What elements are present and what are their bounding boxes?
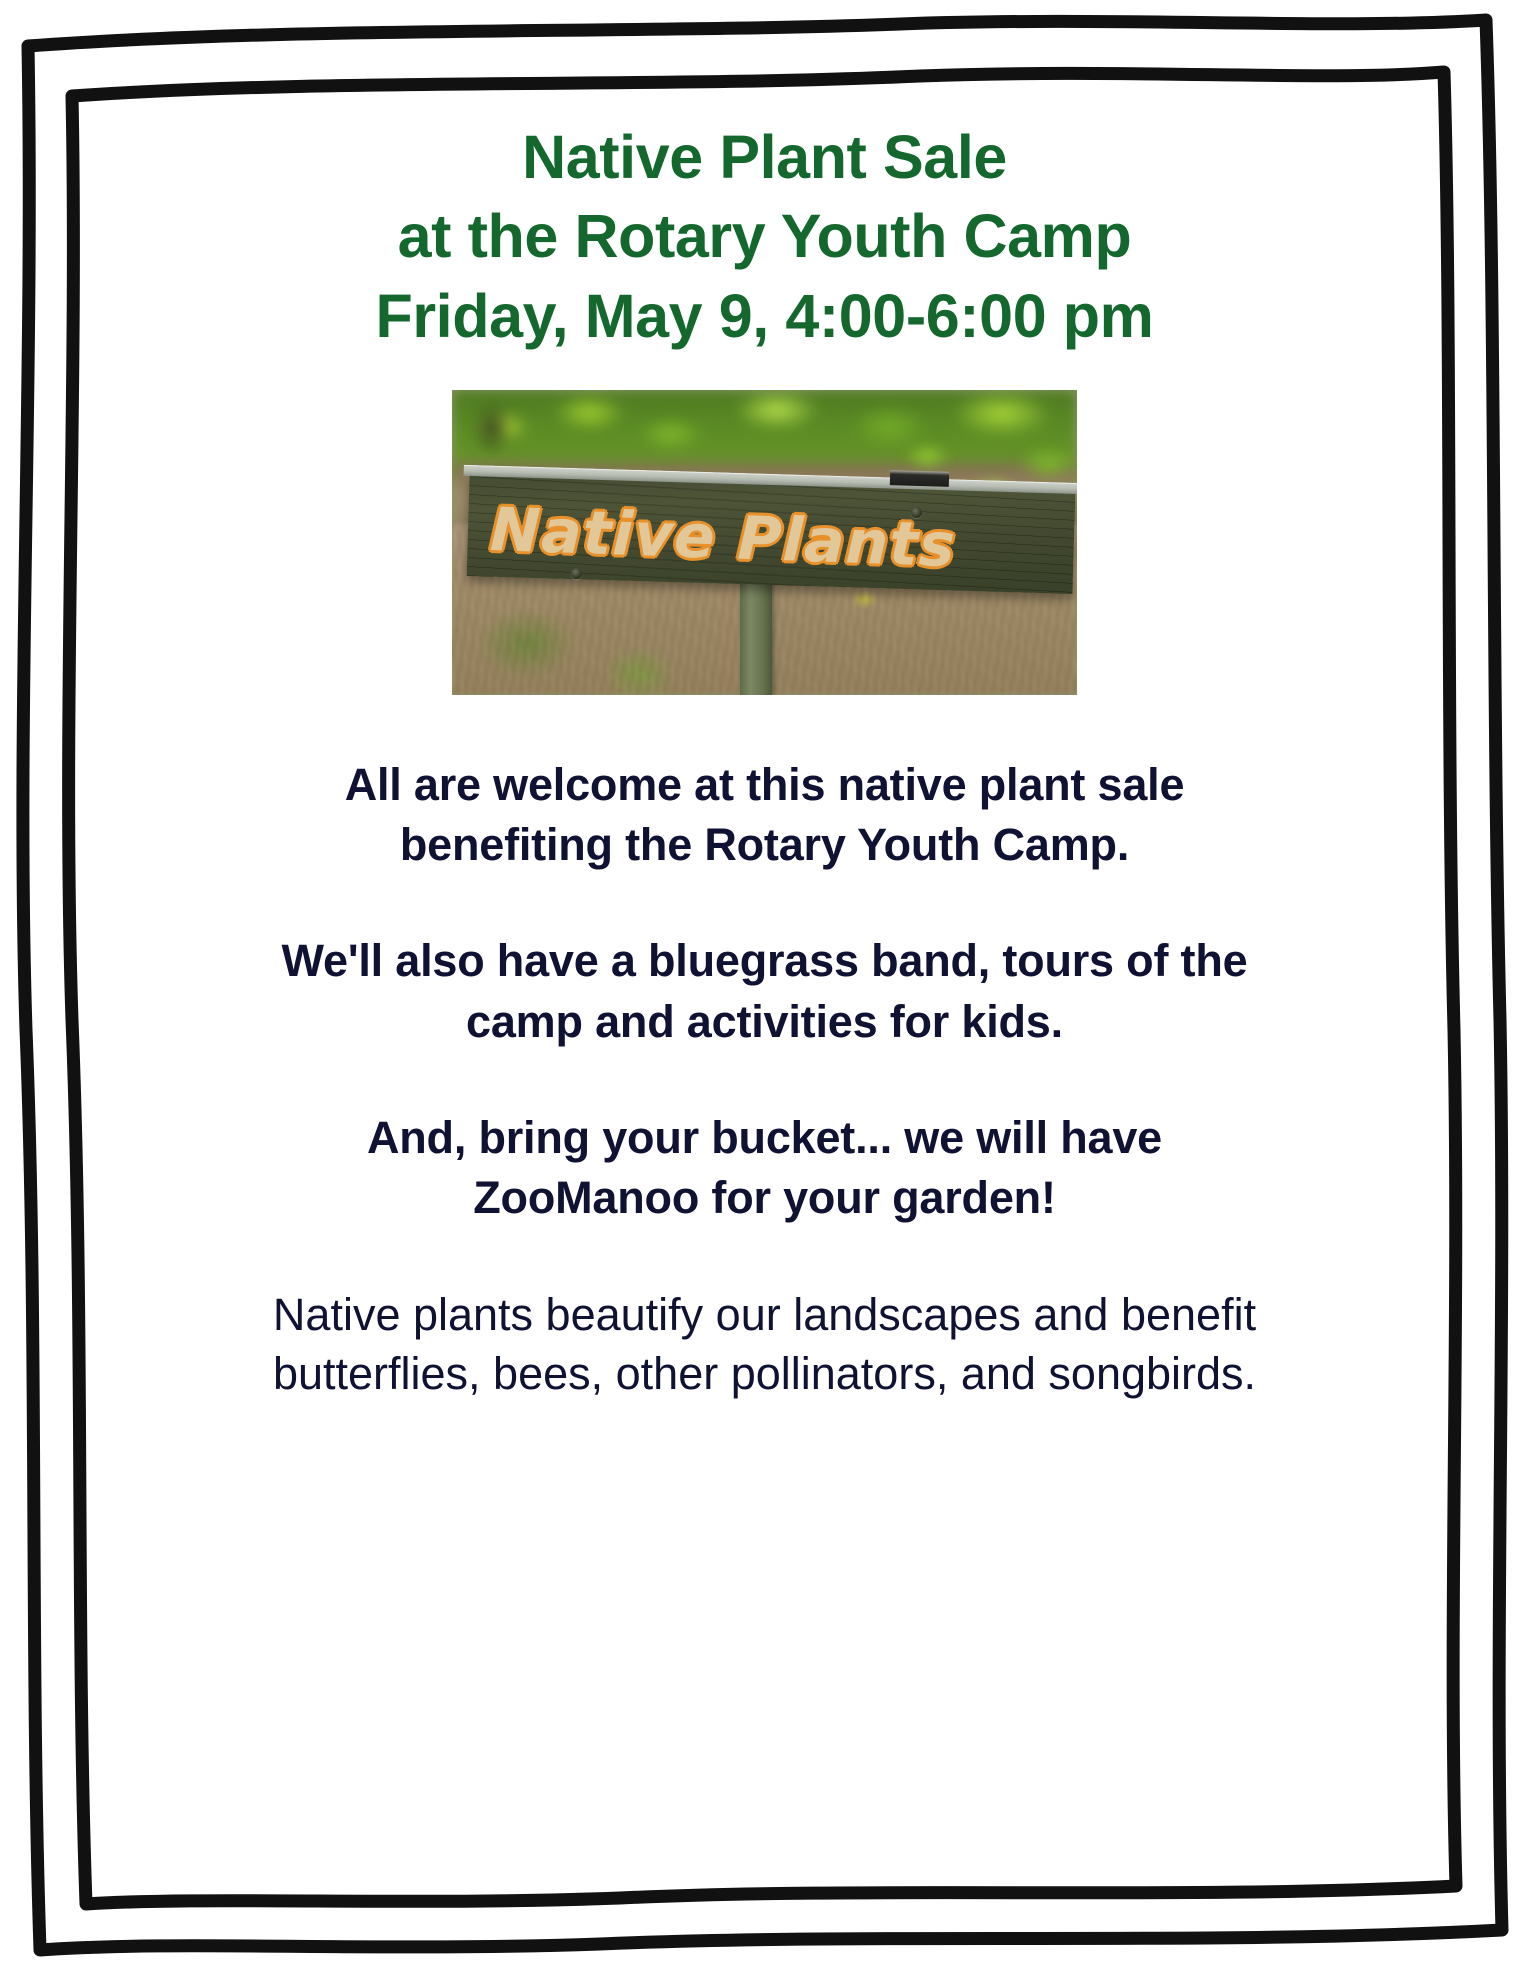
paragraph-welcome: All are welcome at this native plant sal…	[150, 755, 1379, 876]
photo-dark-block	[889, 470, 949, 487]
body-copy: All are welcome at this native plant sal…	[150, 755, 1379, 1404]
page-title: Native Plant Sale at the Rotary Youth Ca…	[150, 118, 1379, 356]
paragraph-activities-line-1: We'll also have a bluegrass band, tours …	[150, 931, 1379, 991]
paragraph-welcome-line-1: All are welcome at this native plant sal…	[150, 755, 1379, 815]
title-line-1: Native Plant Sale	[150, 118, 1379, 197]
paragraph-bucket-line-2: ZooManoo for your garden!	[150, 1168, 1379, 1228]
paragraph-footer-line-2: butterflies, bees, other pollinators, an…	[150, 1344, 1379, 1403]
poster-content: Native Plant Sale at the Rotary Youth Ca…	[0, 0, 1529, 1980]
title-line-2: at the Rotary Youth Camp	[150, 197, 1379, 276]
poster-page: Native Plant Sale at the Rotary Youth Ca…	[0, 0, 1529, 1980]
photo-canvas: Native Plants	[452, 390, 1077, 695]
paragraph-activities: We'll also have a bluegrass band, tours …	[150, 931, 1379, 1052]
native-plants-sign-photo: Native Plants	[452, 390, 1077, 695]
paragraph-bucket: And, bring your bucket... we will have Z…	[150, 1108, 1379, 1229]
photo-screw-left-icon	[571, 568, 582, 579]
photo-sign-post	[740, 579, 773, 695]
paragraph-bucket-line-1: And, bring your bucket... we will have	[150, 1108, 1379, 1168]
paragraph-activities-line-2: camp and activities for kids.	[150, 992, 1379, 1052]
title-line-3: Friday, May 9, 4:00-6:00 pm	[150, 277, 1379, 356]
paragraph-footer-line-1: Native plants beautify our landscapes an…	[150, 1285, 1379, 1344]
paragraph-welcome-line-2: benefiting the Rotary Youth Camp.	[150, 815, 1379, 875]
paragraph-footer-note: Native plants beautify our landscapes an…	[150, 1285, 1379, 1404]
